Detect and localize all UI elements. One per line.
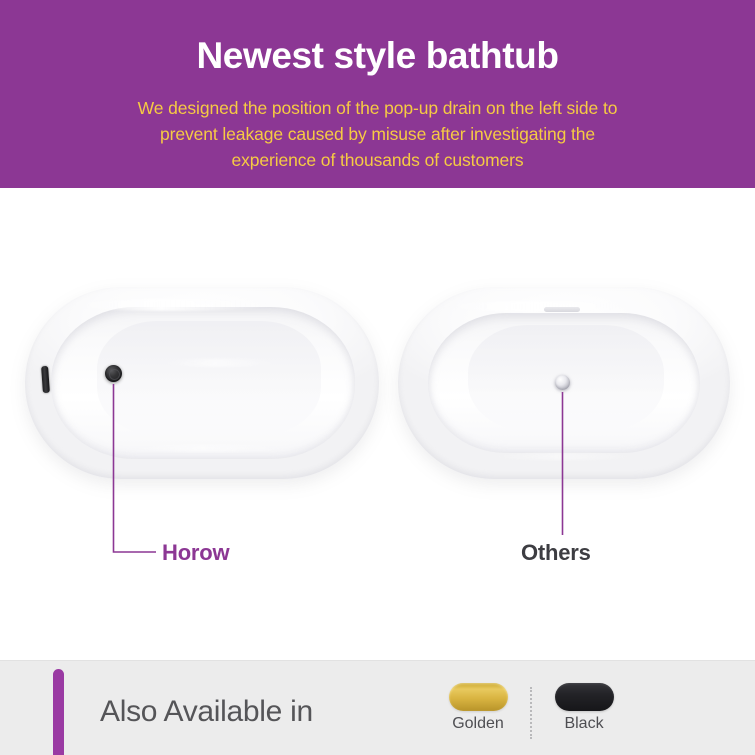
horow-bathtub-figure — [25, 287, 379, 479]
subtitle-line-2: prevent leakage caused by misuse after i… — [60, 121, 695, 147]
golden-label: Golden — [440, 714, 516, 734]
header-banner: Newest style bathtub We designed the pos… — [0, 0, 755, 188]
top-overflow-slot — [544, 307, 580, 312]
others-bathtub-figure — [398, 287, 730, 479]
others-tub-highlight — [442, 301, 632, 312]
horow-tub-floor — [97, 321, 321, 435]
others-tub-highlight-lower — [494, 453, 634, 460]
page-title: Newest style bathtub — [0, 33, 755, 79]
color-swatch-group: Golden Black — [440, 683, 622, 739]
swatch-golden[interactable]: Golden — [440, 683, 516, 734]
golden-color-chip[interactable] — [449, 683, 508, 711]
black-label: Black — [546, 714, 622, 734]
others-label: Others — [521, 540, 591, 566]
swatch-divider — [530, 687, 532, 739]
chrome-pop-up-drain — [555, 375, 570, 390]
horow-label: Horow — [162, 540, 229, 566]
subtitle-line-1: We designed the position of the pop-up d… — [60, 95, 695, 121]
swatch-black[interactable]: Black — [546, 683, 622, 734]
black-color-chip[interactable] — [555, 683, 614, 711]
header-subtitle: We designed the position of the pop-up d… — [60, 95, 695, 173]
subtitle-line-3: experience of thousands of customers — [60, 147, 695, 173]
horow-tub-highlight-inner — [165, 359, 275, 367]
also-available-label: Also Available in — [100, 695, 313, 729]
horow-tub-highlight — [71, 299, 271, 311]
also-available-bar: Also Available in Golden Black — [0, 660, 755, 755]
horow-tub-highlight-lower — [135, 445, 285, 452]
product-infographic: Newest style bathtub We designed the pos… — [0, 0, 755, 755]
comparison-stage — [0, 188, 755, 655]
accent-bar — [53, 669, 64, 755]
black-pop-up-drain — [105, 365, 122, 382]
